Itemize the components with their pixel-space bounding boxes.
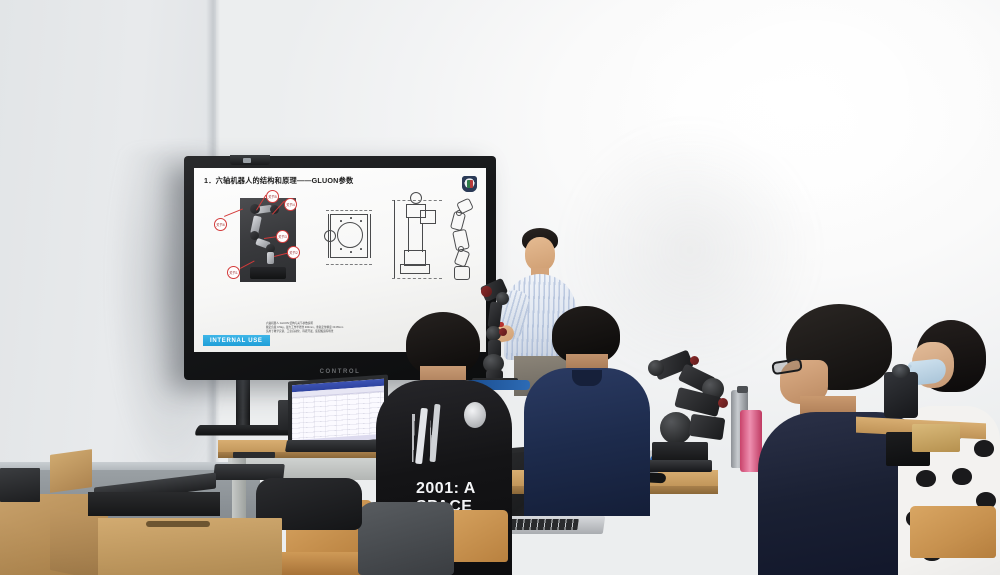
jacket-on-chair [358,502,454,575]
institution-crest-icon [462,176,477,192]
slide-drawing-flange [322,204,378,282]
slide-callout: 关节1 [227,266,240,279]
slide-title: 1．六轴机器人的结构和原理——GLUON参数 [204,176,476,186]
slide-callout: 关节4 [284,198,297,211]
cardboard-box-left-upper [50,449,92,493]
attendee-fc-shirt [524,368,650,516]
slide-callout: 关节5 [266,190,279,203]
presenter-head [525,237,555,271]
slide-robot-base [250,267,286,279]
keyboard[interactable] [233,452,275,458]
box-handle-cutout [146,521,210,527]
laptop-left-screen[interactable] [292,379,384,445]
slide-drawing-posture [442,198,484,292]
display-brand-label: CONTROL [320,369,361,375]
camera-lens-icon [892,364,910,378]
robot-arm-table-plate [646,460,712,472]
slide-callout: 关节6 [214,218,227,231]
slide-callout: 关节2 [287,246,300,259]
thermos-cap [737,386,748,393]
cardboard-box-small [912,424,960,452]
slide-callout: 关节3 [276,230,289,243]
person-attendee-front-center [524,306,650,506]
slide-drawing-side [390,190,446,290]
laptop-left[interactable] [288,375,388,450]
classroom-scene: 1．六轴机器人的结构和原理——GLUON参数 关节6 [0,0,1000,575]
chair-right[interactable] [910,506,996,558]
internal-use-badge: INTERNAL USE [203,335,270,346]
camera-sensor-bar [230,155,270,165]
attendee-fc-collar [572,370,602,386]
cardboard-box-front [92,518,282,575]
monitor-box-left [0,468,40,502]
camera-device [884,372,918,418]
dark-shelf-body [88,492,220,516]
display-stand-column [236,380,250,428]
cardboard-box-front-flap [50,507,98,575]
